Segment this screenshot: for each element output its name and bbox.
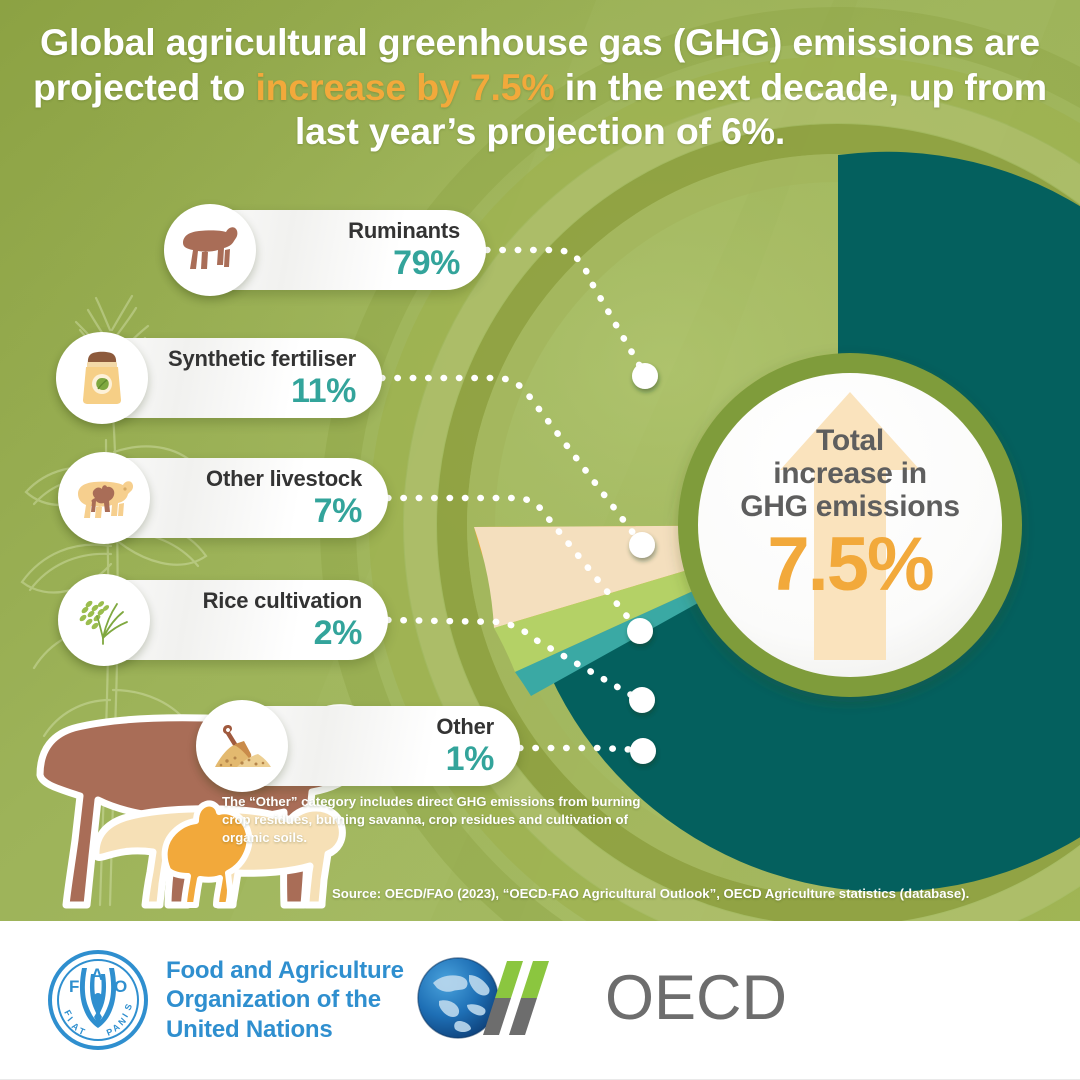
svg-text:F: F [69,977,79,996]
callout-value: 1% [436,742,494,776]
endpoint-other [630,738,656,764]
headline-highlight: increase by 7.5% [255,66,554,108]
fao-line-1: Food and Agriculture [166,956,404,985]
fao-logo-block: F A O F I A T P A N I S Food and Agricul… [46,948,404,1052]
callout-label: Other [436,716,494,738]
oecd-logo-block: OECD [415,955,787,1041]
callout-text: Ruminants 79% [348,220,460,280]
callout-label: Synthetic fertiliser [168,348,356,370]
callout-label: Ruminants [348,220,460,242]
fao-emblem-icon: F A O F I A T P A N I S [46,948,150,1052]
callout-label: Other livestock [206,468,362,490]
svg-text:O: O [114,977,127,996]
callout-value: 11% [168,374,356,408]
centre-line-1: Total [716,424,984,457]
oecd-mark-icon [415,955,595,1041]
callout-other-livestock[interactable]: Other livestock 7% [62,458,388,538]
callout-value: 7% [206,494,362,528]
rice-stalk-icon [58,574,150,666]
callout-value: 79% [348,246,460,280]
callout-value: 2% [203,616,362,650]
callout-ruminants[interactable]: Ruminants 79% [168,210,486,290]
svg-text:A: A [91,965,103,984]
footer-logos: F A O F I A T P A N I S Food and Agricul… [0,921,1080,1080]
svg-text:S: S [123,1002,135,1011]
fao-line-2: Organization of the [166,985,404,1014]
endpoint-fertiliser [629,532,655,558]
callout-other[interactable]: Other 1% [200,706,520,786]
endpoint-ruminants [632,363,658,389]
callout-synthetic-fertiliser[interactable]: Synthetic fertiliser 11% [60,338,382,418]
fertiliser-bag-icon [56,332,148,424]
fao-name: Food and Agriculture Organization of the… [166,956,404,1044]
page-title: Global agricultural greenhouse gas (GHG)… [0,20,1080,154]
centre-line-2: increase in [716,457,984,490]
callout-text: Rice cultivation 2% [203,590,362,650]
endpoint-rice [629,687,655,713]
fao-line-3: United Nations [166,1015,404,1044]
centre-bubble-text: Total increase in GHG emissions 7.5% [716,424,984,603]
source-citation: Source: OECD/FAO (2023), “OECD-FAO Agric… [332,886,1058,902]
callout-text: Other livestock 7% [206,468,362,528]
shovel-soil-icon [196,700,288,792]
green-background: Global agricultural greenhouse gas (GHG)… [0,0,1080,921]
callout-text: Synthetic fertiliser 11% [168,348,356,408]
oecd-wordmark: OECD [605,967,787,1030]
other-category-footnote: The “Other” category includes direct GHG… [222,793,652,847]
pig-chicken-icon [58,452,150,544]
callout-text: Other 1% [436,716,494,776]
centre-line-3: GHG emissions [716,490,984,523]
cow-icon [164,204,256,296]
endpoint-other-livestock [627,618,653,644]
infographic-canvas: Global agricultural greenhouse gas (GHG)… [0,0,1080,1080]
centre-value: 7.5% [716,527,984,603]
callout-rice-cultivation[interactable]: Rice cultivation 2% [62,580,388,660]
callout-label: Rice cultivation [203,590,362,612]
